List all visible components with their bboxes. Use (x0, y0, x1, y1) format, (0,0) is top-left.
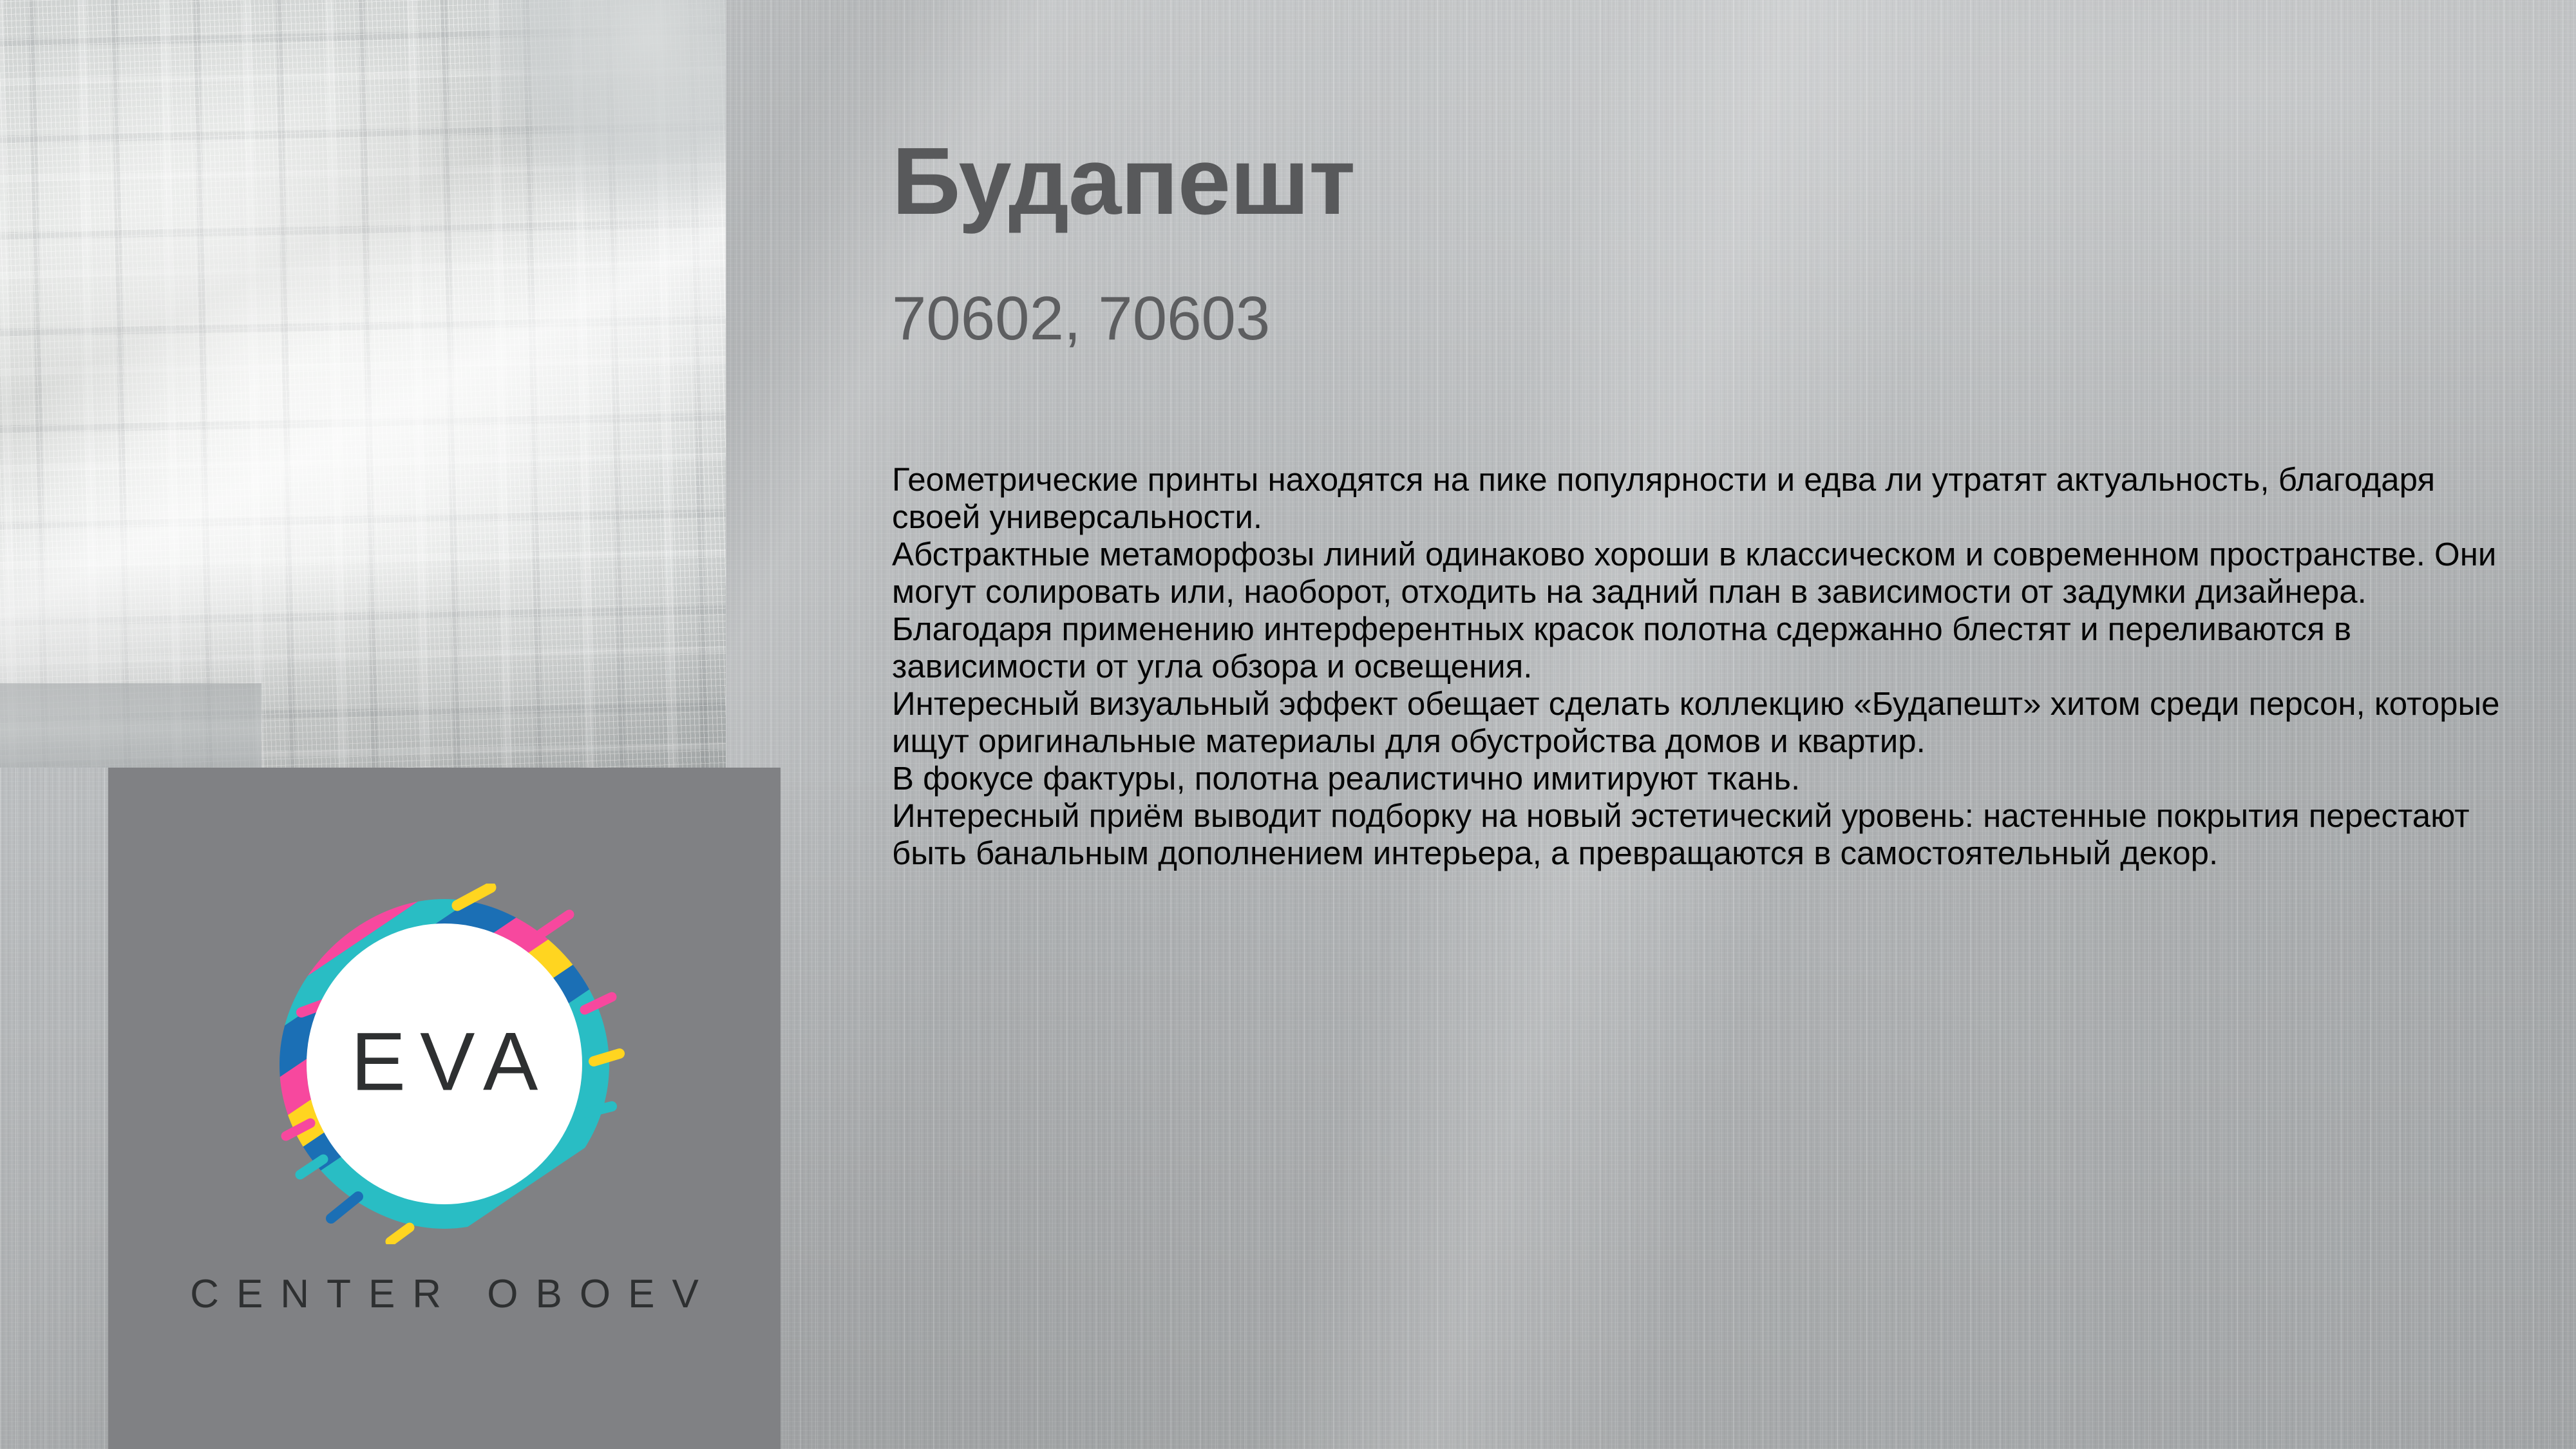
article-numbers: 70602, 70603 (892, 288, 1270, 350)
brand-tagline: CENTER OBOEV (108, 1271, 781, 1317)
slide-canvas: EVA CENTER OBOEV Будапешт 70602, 70603 Г… (0, 0, 2576, 1449)
eva-logo: EVA (264, 884, 625, 1244)
brand-panel: EVA CENTER OBOEV (108, 768, 781, 1449)
text-column: Будапешт 70602, 70603 Геометрические при… (892, 0, 2541, 1449)
eva-wordmark: EVA (264, 1021, 625, 1103)
product-photo (0, 0, 726, 768)
photo-sheen (0, 0, 726, 768)
collection-description: Геометрические принты находятся на пике … (892, 461, 2508, 872)
collection-title: Будапешт (892, 134, 1355, 229)
photo-secondary-roll (0, 683, 261, 768)
